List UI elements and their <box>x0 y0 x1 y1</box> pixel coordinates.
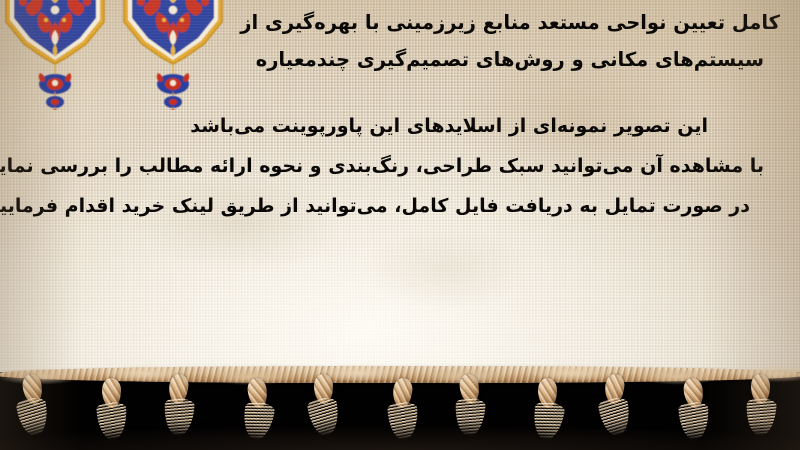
fringe-tassel <box>162 374 196 436</box>
slide-body: این تصویر نمونه‌ای از اسلایدهای این پاور… <box>4 106 794 226</box>
body-line-2: با مشاهده آن می‌توانید سبک طراحی، رنگ‌بن… <box>4 146 794 186</box>
fringe-strands <box>745 397 777 437</box>
fringe-strands <box>163 397 195 437</box>
fringe-strands <box>678 401 710 441</box>
slide-title: کامل تعیین نواحی مستعد منابع زیرزمینی با… <box>226 4 786 78</box>
slide-text-layer: کامل تعیین نواحی مستعد منابع زیرزمینی با… <box>0 0 800 384</box>
body-line-3: در صورت تمایل به دریافت فایل کامل، می‌تو… <box>4 186 794 226</box>
fringe-strands <box>454 397 486 437</box>
title-line-2: سیستم‌های مکانی و روش‌های تصمیم‌گیری چند… <box>226 41 786 78</box>
fringe-strands <box>306 396 342 438</box>
fringe-tassel <box>677 378 711 440</box>
fringe-tassel <box>307 374 341 436</box>
fringe-tassel <box>598 374 632 436</box>
slide-canvas: کامل تعیین نواحی مستعد منابع زیرزمینی با… <box>0 0 800 450</box>
fringe-tassel <box>386 378 420 440</box>
carpet-fringe <box>0 352 800 450</box>
fringe-tassel <box>241 378 275 440</box>
fringe-tassel <box>453 374 487 436</box>
body-line-1: این تصویر نمونه‌ای از اسلایدهای این پاور… <box>4 106 794 146</box>
fringe-strands <box>96 401 128 441</box>
fringe-tassel <box>531 378 565 440</box>
fringe-strands <box>387 401 419 441</box>
fringe-strands <box>16 396 52 438</box>
fringe-tassel <box>744 374 778 436</box>
fringe-tassel <box>95 378 129 440</box>
fringe-strands <box>597 396 633 438</box>
fringe-strands <box>531 400 567 442</box>
fringe-tassel <box>16 374 50 436</box>
title-line-1: کامل تعیین نواحی مستعد منابع زیرزمینی با… <box>226 4 786 41</box>
fringe-strands <box>240 400 276 442</box>
